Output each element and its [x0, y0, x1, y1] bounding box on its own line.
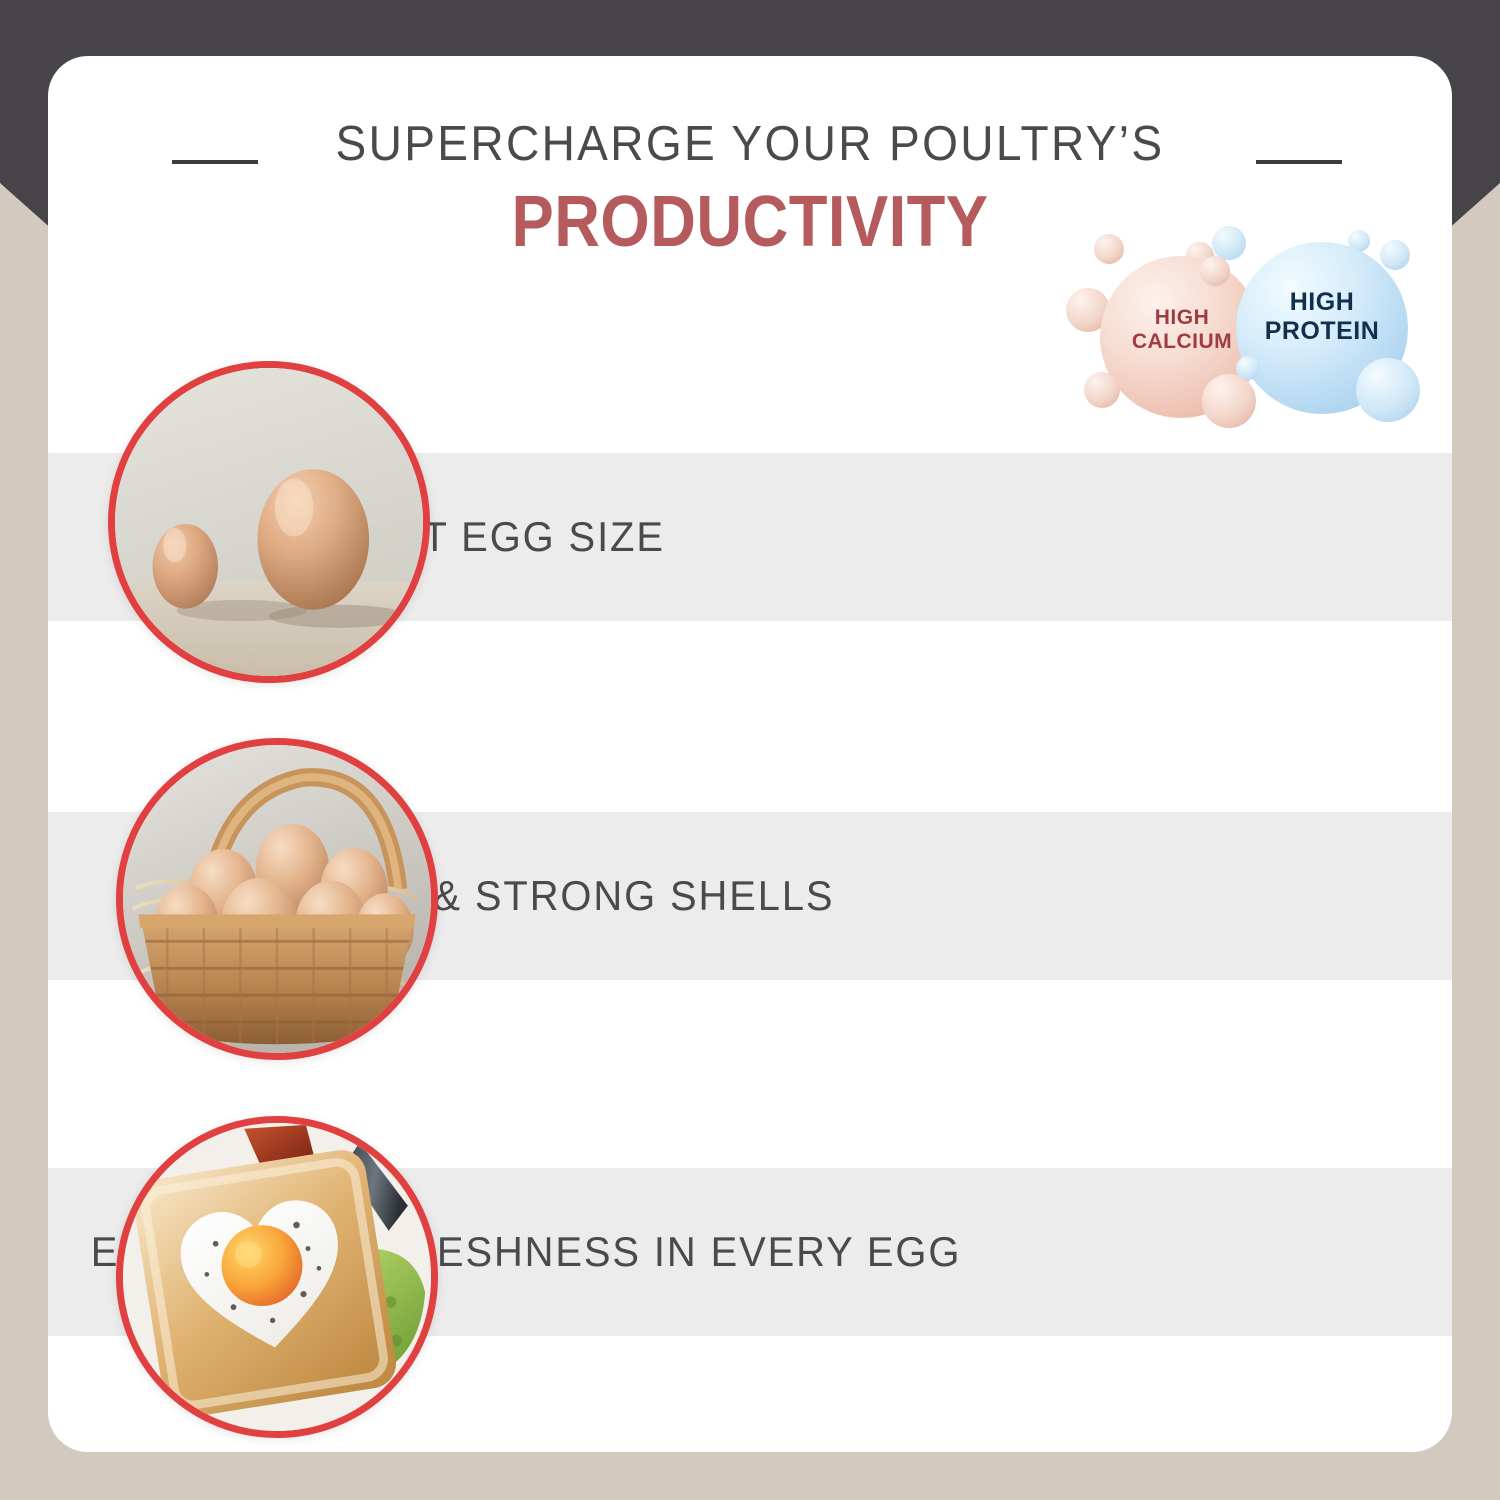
bubble-pink-lowerleft-icon: [1084, 372, 1120, 408]
headline-dash-left-icon: [172, 160, 258, 164]
feature-image-2: [116, 738, 438, 1060]
bubble-blue-mid-icon: [1236, 356, 1260, 380]
headline-primary: SUPERCHARGE YOUR POULTRY’S: [90, 116, 1410, 172]
infographic-card: SUPERCHARGE YOUR POULTRY’S PRODUCTIVITY …: [48, 56, 1452, 1452]
feature-image-1: [108, 361, 430, 683]
bubble-pink-tiny-icon: [1094, 234, 1124, 264]
feature-image-3: [116, 1116, 438, 1438]
nutrient-badge: HIGH CALCIUM HIGH PROTEIN: [1060, 226, 1430, 451]
protein-label: HIGH PROTEIN: [1246, 288, 1398, 346]
bubble-pink-overlap-icon: [1200, 256, 1230, 286]
headline-dash-right-icon: [1256, 160, 1342, 164]
calcium-label: HIGH CALCIUM: [1112, 306, 1252, 354]
bubble-pink-lowercenter-icon: [1202, 374, 1256, 428]
bubble-blue-topright-icon: [1380, 240, 1410, 270]
bubble-blue-top-icon: [1212, 226, 1246, 260]
bubble-blue-lowerright-icon: [1356, 358, 1420, 422]
